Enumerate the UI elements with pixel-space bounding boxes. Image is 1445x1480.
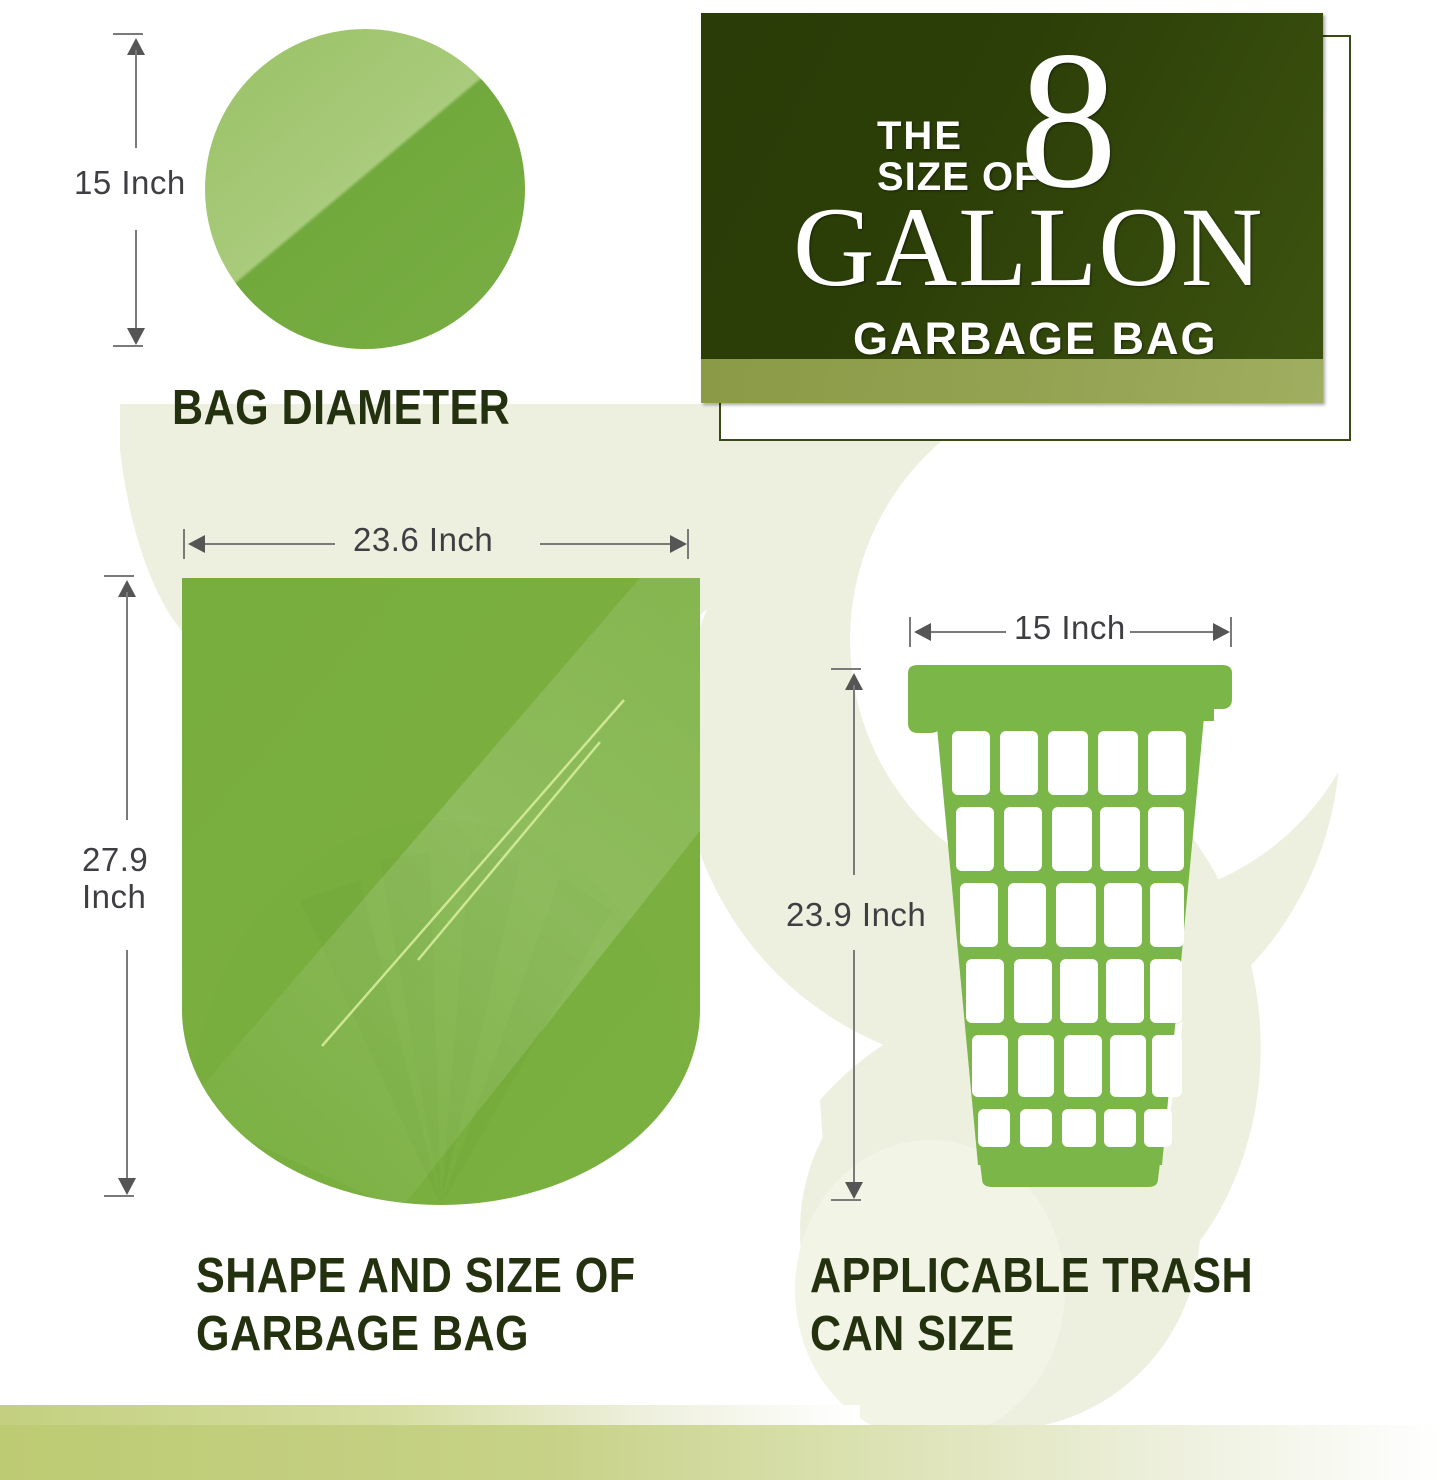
banner-the-label: THE xyxy=(877,114,963,159)
product-size-infographic: 15 Inch BAG DIAMETER 23.6 Inch 27.9 Inch… xyxy=(0,0,1445,1480)
bag-diameter-circle-icon xyxy=(205,29,525,349)
dimension-label-bag-diameter: 15 Inch xyxy=(74,165,186,202)
bottom-accent-strip xyxy=(0,1405,1445,1480)
caption-bag-diameter: BAG DIAMETER xyxy=(172,380,510,438)
banner-card: THE SIZE OF 8 GALLON GARBAGE BAG xyxy=(701,13,1323,403)
mesh-trash-can-icon xyxy=(900,665,1240,1195)
banner-product-label: GARBAGE BAG xyxy=(853,313,1218,365)
gallon-size-banner: THE SIZE OF 8 GALLON GARBAGE BAG xyxy=(701,13,1331,428)
banner-gallon-unit: GALLON xyxy=(793,191,1263,304)
dimension-label-bag-height: 27.9 Inch xyxy=(82,842,148,916)
dimension-label-can-height: 23.9 Inch xyxy=(786,897,926,934)
caption-trash-can: APPLICABLE TRASH CAN SIZE xyxy=(810,1248,1253,1364)
caption-garbage-bag: SHAPE AND SIZE OF GARBAGE BAG xyxy=(196,1248,636,1364)
banner-bottom-band xyxy=(701,359,1323,403)
dimension-label-bag-width: 23.6 Inch xyxy=(353,522,493,559)
dimension-label-can-width: 15 Inch xyxy=(1014,610,1126,647)
